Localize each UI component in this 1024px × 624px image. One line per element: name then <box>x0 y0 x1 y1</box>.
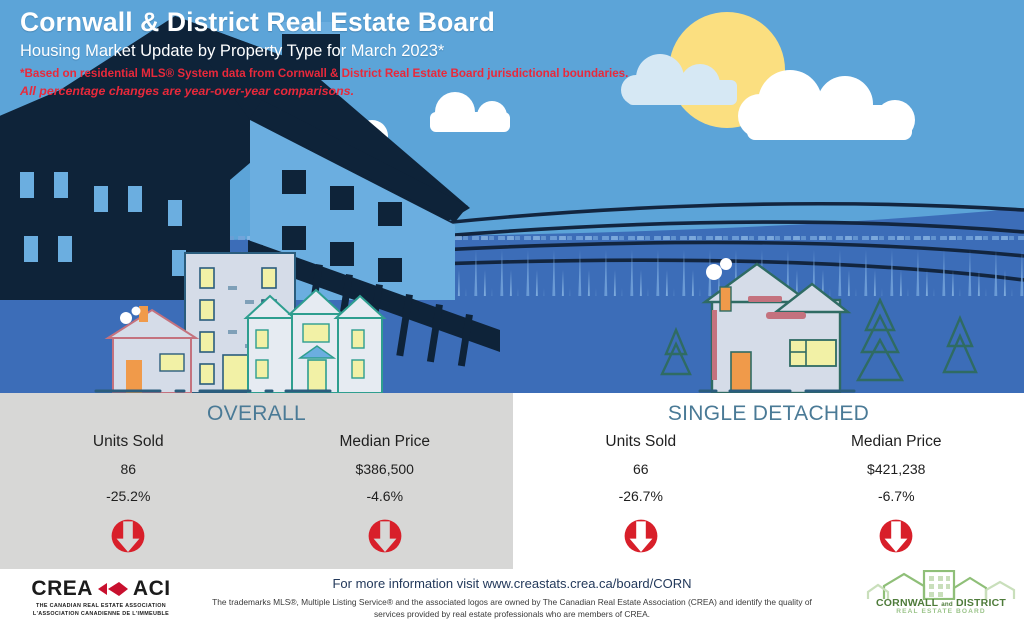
board-name-mid: and <box>941 601 953 608</box>
footer-legal-text: The trademarks MLS®, Multiple Listing Se… <box>212 596 812 620</box>
crea-logo-subtitle: THE CANADIAN REAL ESTATE ASSOCIATION L'A… <box>16 602 186 618</box>
panel-single-detached: SINGLE DETACHED Units Sold 66 -26.7% Med… <box>513 393 1024 569</box>
crea-subtitle-fr: L'ASSOCIATION CANADIENNE DE L'IMMEUBLE <box>16 610 186 618</box>
board-logo-buildings-icon <box>866 570 1016 600</box>
panel-overall-metrics: Units Sold 86 -25.2% Median Price $386,5… <box>0 433 513 553</box>
metric-value: 86 <box>0 461 257 478</box>
metric-value: $386,500 <box>257 461 514 478</box>
panel-overall: OVERALL Units Sold 86 -25.2% Median Pric… <box>0 393 513 569</box>
crea-wordmark: CREA ACI <box>16 578 186 599</box>
panel-detached-metrics: Units Sold 66 -26.7% Median Price $421,2… <box>513 433 1024 553</box>
row-houses <box>246 290 384 393</box>
metric-change: -6.7% <box>769 488 1024 505</box>
crea-logo: CREA ACI THE CANADIAN REAL ESTATE ASSOCI… <box>16 578 186 620</box>
hero-text-block: Cornwall & District Real Estate Board Ho… <box>20 8 660 99</box>
statistics-band: OVERALL Units Sold 86 -25.2% Median Pric… <box>0 393 1024 569</box>
hero-illustration: Cornwall & District Real Estate Board Ho… <box>0 0 1024 393</box>
metric-change: -26.7% <box>513 488 769 505</box>
panel-overall-title: OVERALL <box>0 402 513 426</box>
crea-word-right: ACI <box>133 578 171 599</box>
metric-change: -25.2% <box>0 488 257 505</box>
crea-word-left: CREA <box>31 578 93 599</box>
metric-overall-median-price: Median Price $386,500 -4.6% <box>257 433 514 553</box>
panel-detached-title: SINGLE DETACHED <box>513 402 1024 426</box>
board-logo: CORNWALL and DISTRICT REAL ESTATE BOARD <box>866 570 1016 620</box>
disclaimer-note-primary: *Based on residential MLS® System data f… <box>20 67 660 81</box>
metric-overall-units-sold: Units Sold 86 -25.2% <box>0 433 257 553</box>
page-title: Cornwall & District Real Estate Board <box>20 8 660 38</box>
disclaimer-note-secondary: All percentage changes are year-over-yea… <box>20 84 660 100</box>
arrow-down-icon <box>0 519 257 553</box>
metric-label: Median Price <box>769 433 1024 452</box>
arrow-down-icon <box>257 519 514 553</box>
metric-value: $421,238 <box>769 461 1024 478</box>
metric-change: -4.6% <box>257 488 514 505</box>
arrow-down-icon <box>769 519 1024 553</box>
crea-subtitle-en: THE CANADIAN REAL ESTATE ASSOCIATION <box>16 602 186 610</box>
arrow-down-icon <box>513 519 769 553</box>
metric-detached-units-sold: Units Sold 66 -26.7% <box>513 433 769 553</box>
metric-label: Median Price <box>257 433 514 452</box>
metric-value: 66 <box>513 461 769 478</box>
board-logo-name: CORNWALL and DISTRICT <box>866 598 1016 609</box>
metric-label: Units Sold <box>513 433 769 452</box>
metric-label: Units Sold <box>0 433 257 452</box>
metric-detached-median-price: Median Price $421,238 -6.7% <box>769 433 1024 553</box>
crea-arrow-icon <box>98 581 128 597</box>
infographic-page: Cornwall & District Real Estate Board Ho… <box>0 0 1024 624</box>
board-logo-tagline: REAL ESTATE BOARD <box>866 609 1016 616</box>
page-subtitle: Housing Market Update by Property Type f… <box>20 42 660 62</box>
